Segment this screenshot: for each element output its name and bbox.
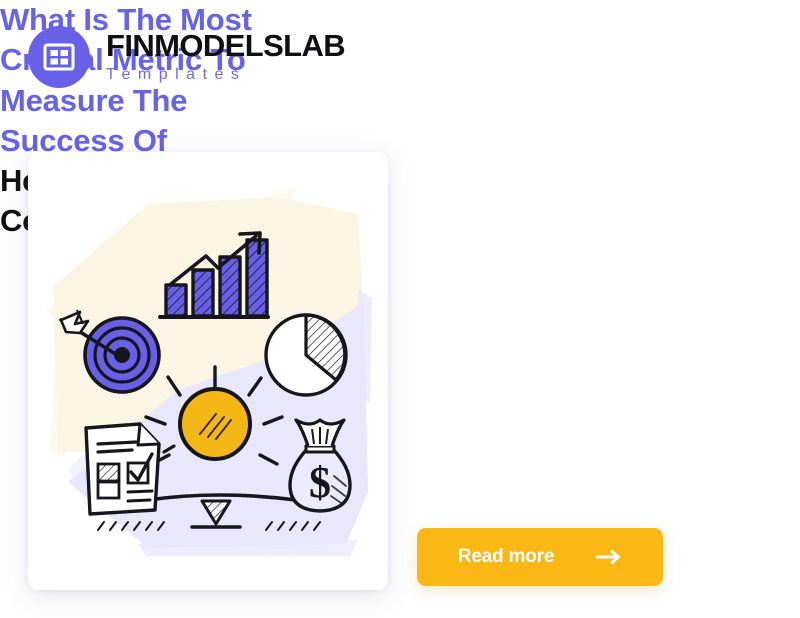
illustration-card: $: [28, 152, 388, 590]
grid-squares-icon: [28, 26, 90, 88]
read-more-label: Read more: [458, 546, 554, 568]
svg-text:$: $: [309, 458, 331, 507]
read-more-button[interactable]: Read more: [417, 528, 663, 586]
brand-subtitle: Templates: [106, 65, 345, 84]
arrow-right-icon: [596, 549, 622, 565]
promo-banner: FINMODELSLAB Templates: [0, 0, 800, 618]
pie-chart-icon: [266, 315, 346, 395]
brand-logo-text: FINMODELSLAB Templates: [106, 30, 345, 85]
brand-logo[interactable]: FINMODELSLAB Templates: [28, 26, 345, 88]
brand-name: FINMODELSLAB: [106, 30, 345, 63]
